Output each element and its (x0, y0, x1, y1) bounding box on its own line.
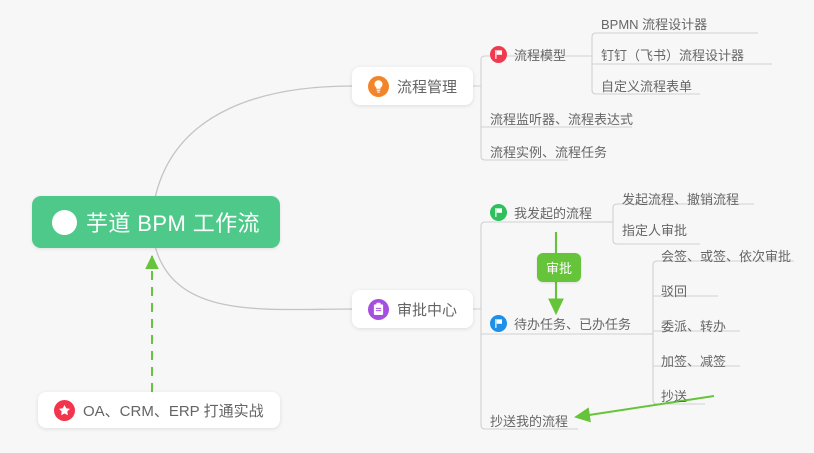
node-label-start-cancel-process: 发起流程、撤销流程 (622, 189, 739, 208)
node-label-bpmn-designer: BPMN 流程设计器 (601, 14, 707, 33)
node-process-model[interactable]: 流程模型 (490, 41, 566, 67)
node-start-cancel-process[interactable]: 发起流程、撤销流程 (622, 185, 739, 211)
branch-label-approval-center: 审批中心 (397, 299, 457, 320)
node-bpmn-designer[interactable]: BPMN 流程设计器 (601, 10, 707, 36)
node-assignee-approval[interactable]: 指定人审批 (622, 216, 687, 242)
node-custom-process-form[interactable]: 自定义流程表单 (601, 72, 692, 98)
root-label: 芋道 BPM 工作流 (86, 206, 260, 238)
node-label-countersign: 会签、或签、依次审批 (661, 246, 791, 265)
node-label-custom-process-form: 自定义流程表单 (601, 76, 692, 95)
node-label-delegate-transfer: 委派、转办 (661, 316, 726, 335)
flag-icon (490, 315, 507, 332)
branch-label-process-management: 流程管理 (397, 76, 457, 97)
annotation-chip-approval-label: 审批 (546, 258, 572, 277)
node-label-cc: 抄送 (661, 386, 687, 405)
thumbs-up-icon (52, 210, 77, 235)
root-node[interactable]: 芋道 BPM 工作流 (32, 196, 280, 248)
node-todo-done-tasks[interactable]: 待办任务、已办任务 (490, 310, 631, 336)
node-label-instance-task: 流程实例、流程任务 (490, 142, 607, 161)
flag-icon (490, 46, 507, 63)
node-label-add-remove-sign: 加签、减签 (661, 351, 726, 370)
mindmap-canvas: 芋道 BPM 工作流 流程管理 流程模型 BPMN 流程设计器 钉钉（飞书）流程… (0, 0, 814, 453)
node-reject[interactable]: 驳回 (661, 277, 687, 303)
integration-card[interactable]: OA、CRM、ERP 打通实战 (38, 392, 280, 428)
annotation-chip-approval: 审批 (537, 253, 581, 282)
node-countersign[interactable]: 会签、或签、依次审批 (661, 242, 791, 268)
node-label-cc-to-me: 抄送我的流程 (490, 411, 568, 430)
node-label-listener-expression: 流程监听器、流程表达式 (490, 109, 633, 128)
node-label-reject: 驳回 (661, 281, 687, 300)
node-instance-task[interactable]: 流程实例、流程任务 (490, 138, 607, 164)
branch-card-approval-center[interactable]: 审批中心 (352, 290, 473, 328)
lightbulb-icon (368, 76, 389, 97)
branch-card-process-management[interactable]: 流程管理 (352, 67, 473, 105)
node-dingtalk-feishu-designer[interactable]: 钉钉（飞书）流程设计器 (601, 41, 744, 67)
node-cc[interactable]: 抄送 (661, 382, 687, 408)
node-label-todo-done-tasks: 待办任务、已办任务 (514, 314, 631, 333)
node-label-assignee-approval: 指定人审批 (622, 220, 687, 239)
integration-card-label: OA、CRM、ERP 打通实战 (83, 400, 264, 421)
node-delegate-transfer[interactable]: 委派、转办 (661, 312, 726, 338)
flag-icon (490, 204, 507, 221)
node-label-my-initiated: 我发起的流程 (514, 203, 592, 222)
star-icon (54, 400, 75, 421)
node-add-remove-sign[interactable]: 加签、减签 (661, 347, 726, 373)
clipboard-icon (368, 299, 389, 320)
node-my-initiated[interactable]: 我发起的流程 (490, 199, 592, 225)
node-label-process-model: 流程模型 (514, 45, 566, 64)
node-listener-expression[interactable]: 流程监听器、流程表达式 (490, 105, 633, 131)
node-cc-to-me[interactable]: 抄送我的流程 (490, 407, 568, 433)
node-label-dingtalk-feishu-designer: 钉钉（飞书）流程设计器 (601, 45, 744, 64)
